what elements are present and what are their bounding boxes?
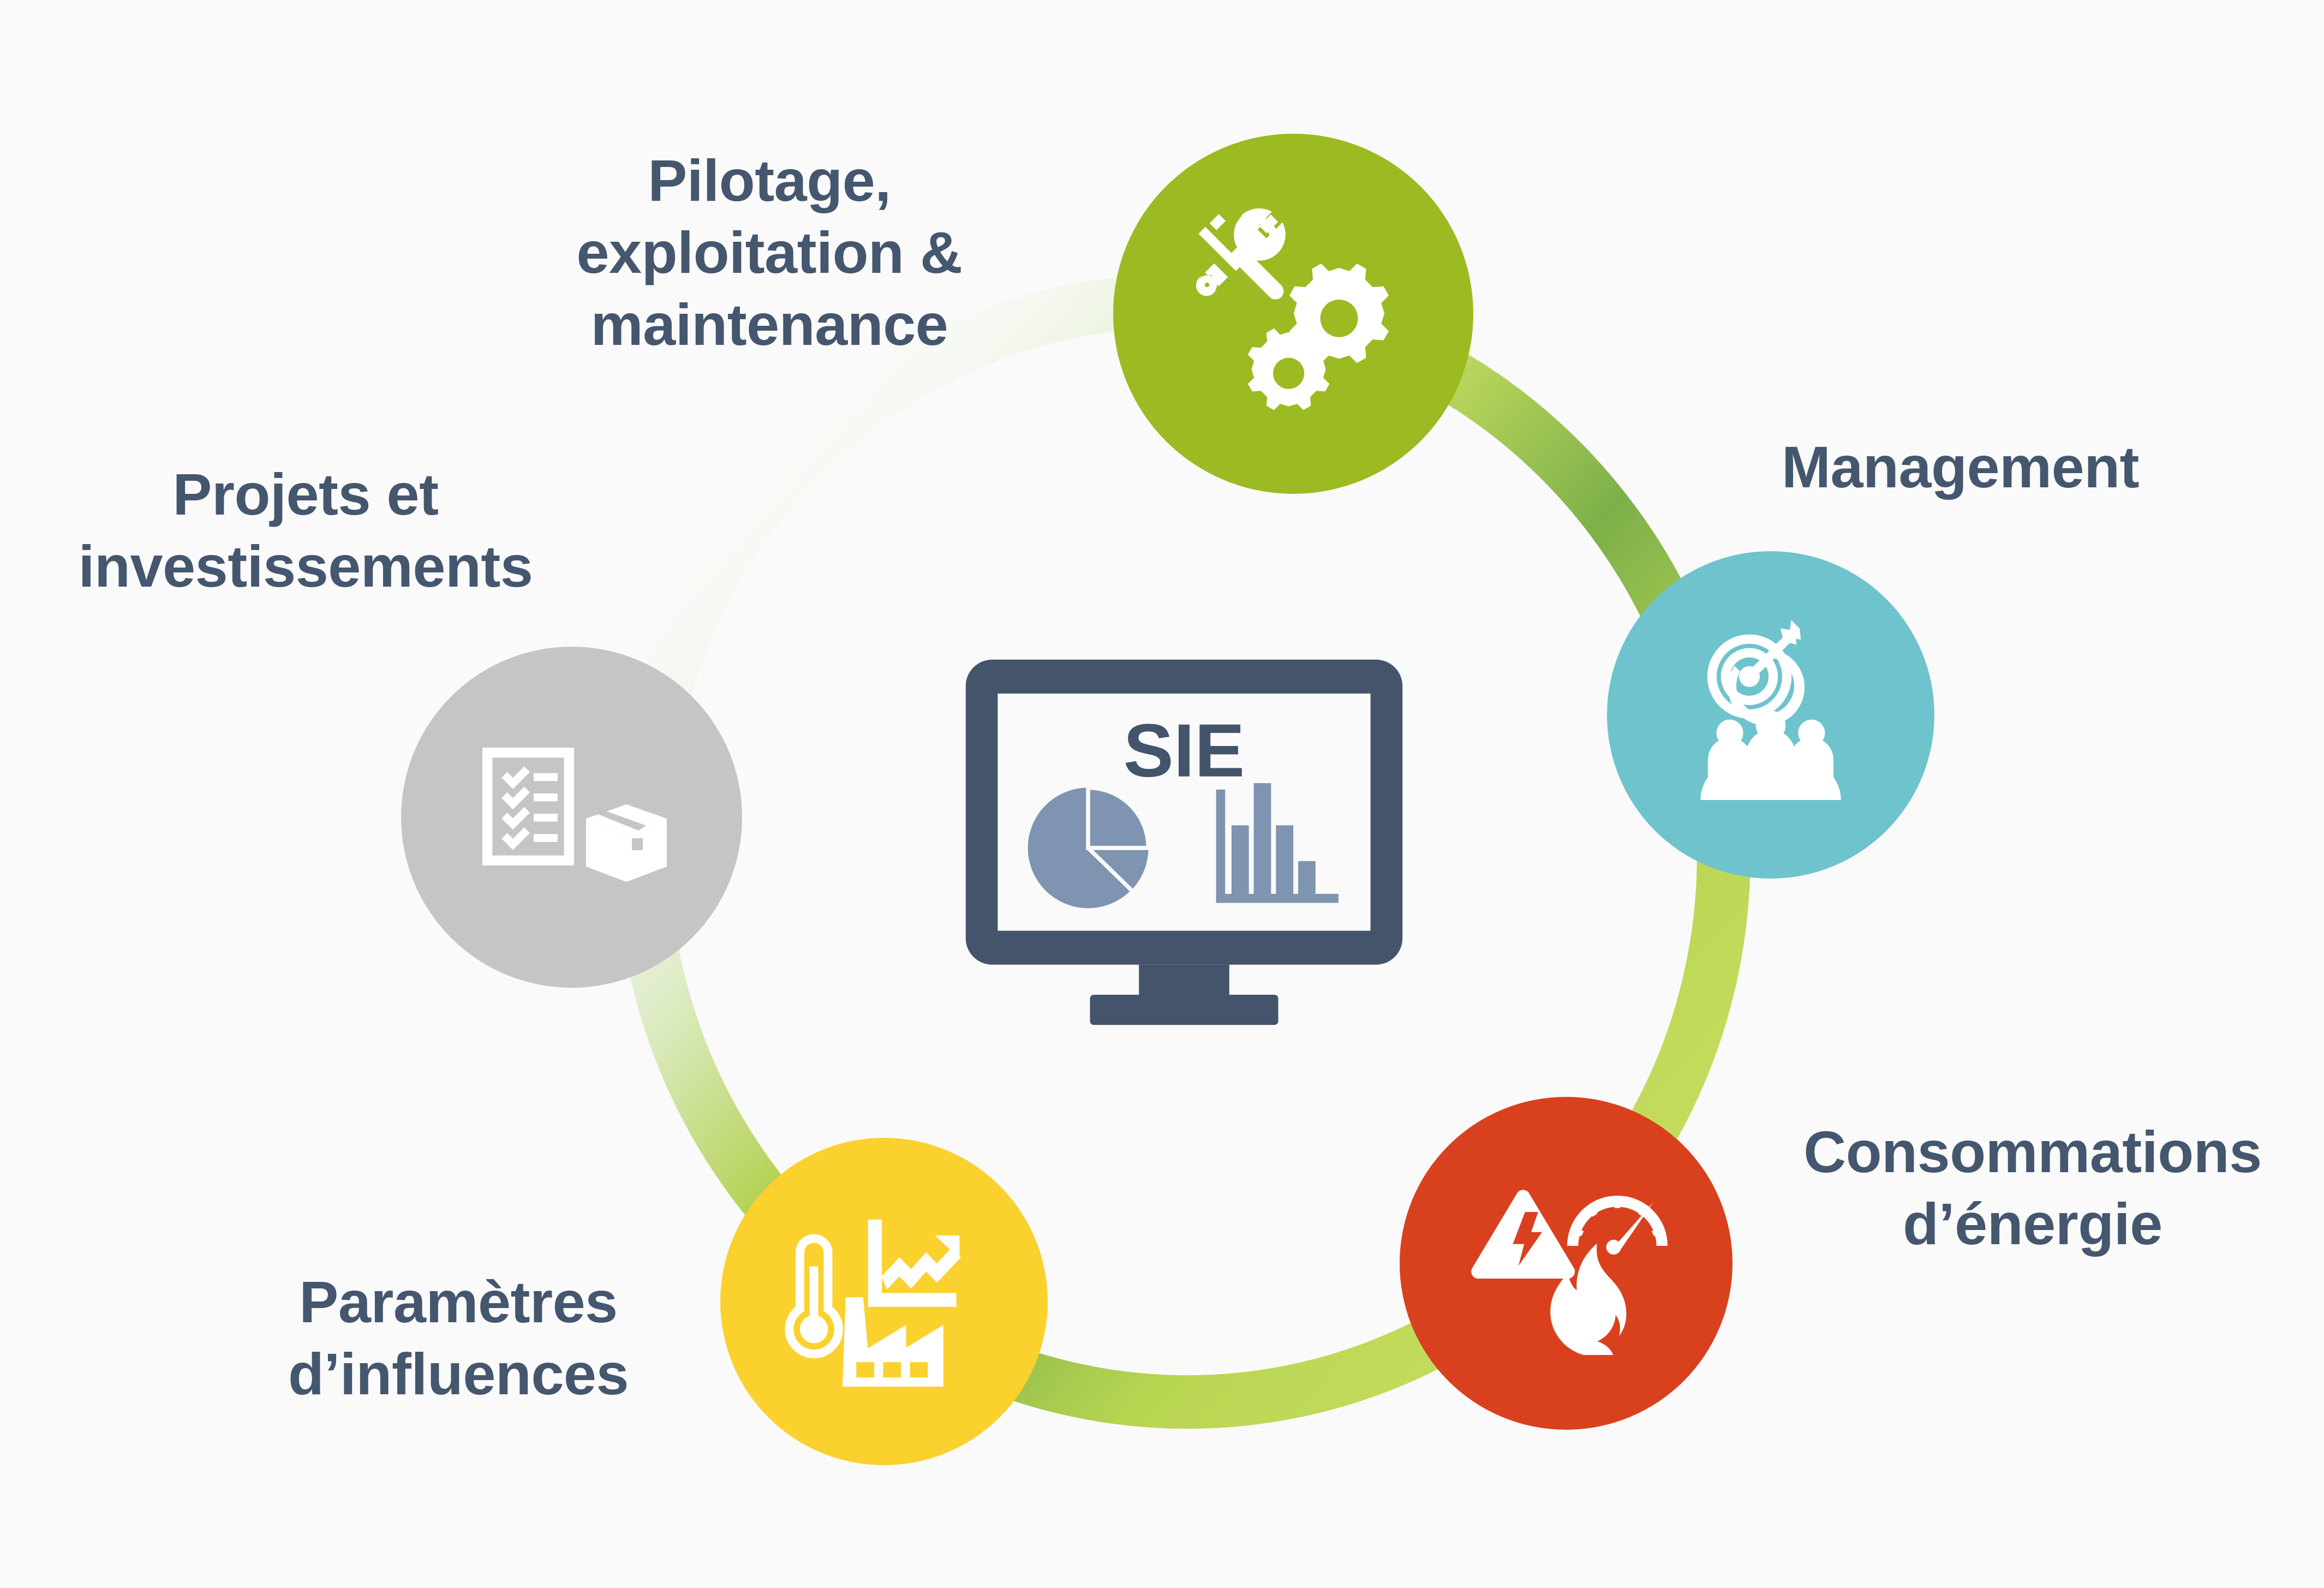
monitor-icon: SIE [958, 652, 1411, 1029]
sie-monitor[interactable]: SIE [958, 652, 1411, 1029]
parametres-icon-group [778, 1195, 990, 1408]
pie-chart-icon [1028, 787, 1149, 908]
label-parametres: Paramètres d’influences [240, 1266, 677, 1410]
monitor-screen-text: SIE [1124, 709, 1245, 793]
gauge-icon [1567, 1196, 1668, 1255]
label-pilotage: Pilotage, exploitation & maintenance [535, 145, 1004, 360]
monitor-neck [1139, 965, 1229, 999]
node-management[interactable] [1607, 551, 1934, 879]
node-projets[interactable] [401, 647, 742, 988]
label-consommations: Consommations d’énergie [1760, 1116, 2305, 1260]
node-pilotage[interactable] [1113, 134, 1473, 494]
label-management: Management [1782, 431, 2273, 503]
node-consommations[interactable] [1400, 1097, 1732, 1430]
consommations-icon-group [1457, 1154, 1675, 1372]
management-icon-group [1664, 608, 1877, 821]
electric-hazard-icon [1471, 1190, 1575, 1279]
label-projets: Projets et investissements [60, 458, 551, 602]
node-parametres[interactable] [720, 1138, 1048, 1465]
package-box-icon [586, 804, 667, 882]
pilotage-icon-group [1179, 199, 1408, 428]
diagram-canvas: SIE Pilotage, exploitation & mainten [0, 0, 2324, 1588]
wrench-icon [1227, 208, 1287, 303]
projets-icon-group [463, 708, 681, 927]
trend-up-chart-icon [868, 1220, 961, 1307]
thermometer-icon [789, 1239, 838, 1354]
factory-icon [843, 1297, 943, 1387]
checklist-icon [482, 748, 574, 865]
people-group-icon [1700, 711, 1841, 800]
monitor-base [1090, 995, 1279, 1025]
target-arrow-icon [1712, 620, 1805, 726]
